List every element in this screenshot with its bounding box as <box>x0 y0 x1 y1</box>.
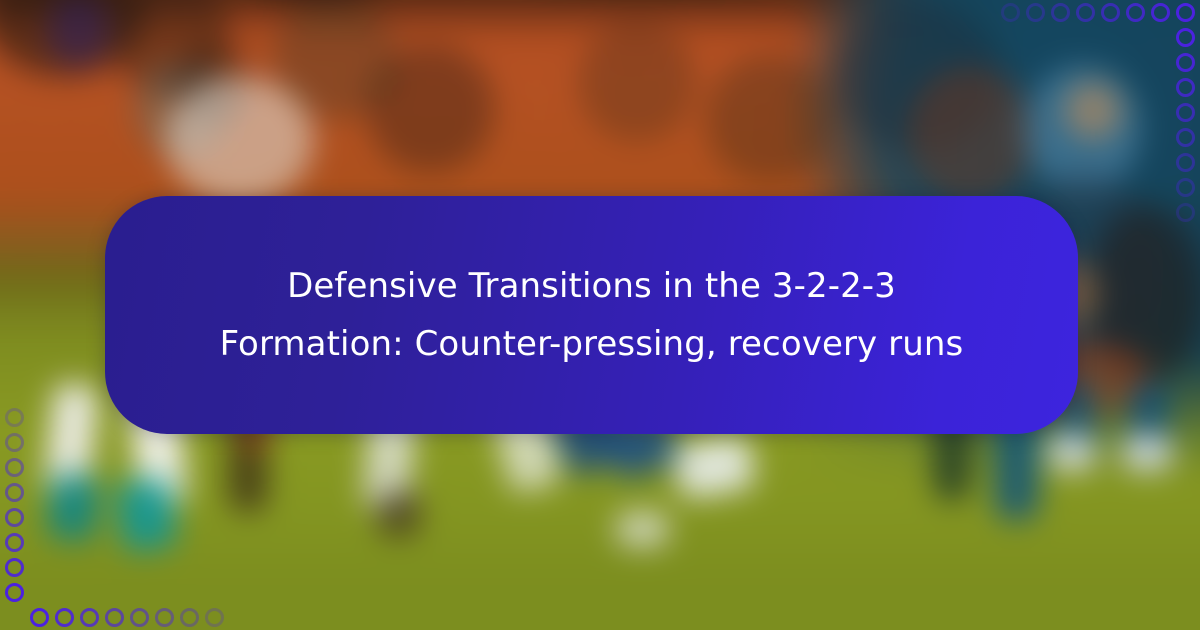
decor-dot <box>1176 128 1195 147</box>
decor-dot <box>1051 3 1070 22</box>
title-line-2: Formation: Counter-pressing, recovery ru… <box>182 315 1002 373</box>
decor-dot <box>5 433 24 452</box>
decor-dot <box>205 608 224 627</box>
player-boot <box>1047 435 1096 471</box>
decor-dot <box>1126 3 1145 22</box>
decor-dot <box>105 608 124 627</box>
decor-dot <box>1176 53 1195 72</box>
title-line-1: Defensive Transitions in the 3-2-2-3 <box>182 257 1002 315</box>
page-title: Defensive Transitions in the 3-2-2-3 For… <box>182 257 1002 373</box>
decor-dot <box>1176 28 1195 47</box>
decor-dot <box>5 483 24 502</box>
decor-dot <box>155 608 174 627</box>
decor-dot <box>5 583 24 602</box>
player-leg <box>377 490 419 537</box>
decor-dot <box>1076 3 1095 22</box>
player-boot <box>616 511 669 547</box>
social-card-canvas: Defensive Transitions in the 3-2-2-3 For… <box>0 0 1200 630</box>
decor-dot <box>80 608 99 627</box>
decor-dot <box>1026 3 1045 22</box>
decor-dot <box>5 508 24 527</box>
decor-dot <box>180 608 199 627</box>
decor-dot <box>1176 103 1195 122</box>
decor-dot <box>5 533 24 552</box>
decor-dot <box>5 408 24 427</box>
decor-dot <box>1001 3 1020 22</box>
decor-dot <box>1176 153 1195 172</box>
decor-dot <box>1176 178 1195 197</box>
decor-dot <box>1101 3 1120 22</box>
decor-dot <box>1176 3 1195 22</box>
title-card: Defensive Transitions in the 3-2-2-3 For… <box>105 196 1078 434</box>
decor-dot <box>5 558 24 577</box>
decor-dot <box>1151 3 1170 22</box>
decor-dot <box>1176 78 1195 97</box>
decor-dot <box>1176 203 1195 222</box>
player-boot <box>1122 435 1173 471</box>
decor-dot <box>55 608 74 627</box>
decor-dot <box>5 458 24 477</box>
decor-dot <box>130 608 149 627</box>
decor-dot <box>30 608 49 627</box>
